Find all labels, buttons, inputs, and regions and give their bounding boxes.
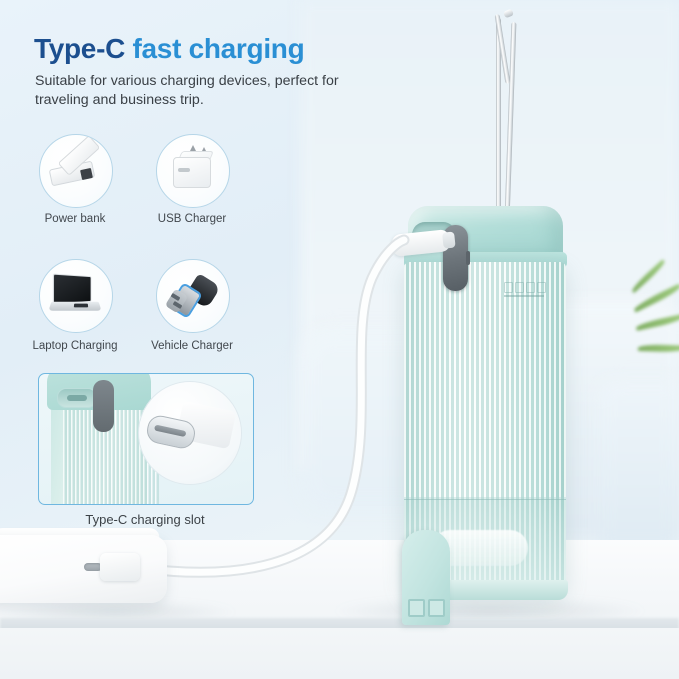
laptop-trackpad	[74, 304, 88, 308]
rubber-port-flap-icon	[93, 380, 114, 432]
power-bank-port-face	[80, 168, 93, 180]
power-bank-icon	[39, 134, 113, 208]
usb-charger-port	[178, 168, 190, 172]
magnifier-bubble	[139, 382, 241, 484]
flosser-nozzle-icon	[478, 8, 538, 218]
counter-front	[0, 628, 679, 679]
plant-leaves-icon	[632, 300, 679, 420]
page-title: Type-C fast charging	[34, 33, 304, 65]
title-highlight: fast charging	[133, 33, 305, 64]
water-level-line	[404, 499, 566, 501]
page-subtitle: Suitable for various charging devices, p…	[35, 72, 365, 110]
type-c-slot-inset-panel	[38, 373, 254, 505]
inset-caption: Type-C charging slot	[38, 512, 252, 527]
usb-c-plug-bank-end	[100, 553, 140, 581]
laptop-icon	[39, 259, 113, 333]
inset-handle-notch	[57, 388, 97, 408]
nozzle-head	[503, 9, 514, 19]
feature-label-laptop: Laptop Charging	[19, 340, 131, 352]
product-marketing-image: Type-C fast charging Suitable for variou…	[0, 0, 679, 679]
feature-label-power-bank: Power bank	[19, 213, 131, 225]
laptop-screen	[53, 273, 92, 304]
feature-label-usb-charger: USB Charger	[136, 213, 248, 225]
usb-charger-icon	[156, 134, 230, 208]
car-charger-icon	[156, 259, 230, 333]
white-power-bank-icon	[0, 535, 167, 603]
title-prefix: Type-C	[34, 33, 133, 64]
product-logo-mark	[504, 282, 544, 300]
feature-label-vehicle-charger: Vehicle Charger	[136, 340, 248, 352]
usb-charger-body	[173, 157, 211, 188]
product-stand-foot	[402, 530, 450, 625]
nozzle-shaft-right	[505, 22, 517, 218]
